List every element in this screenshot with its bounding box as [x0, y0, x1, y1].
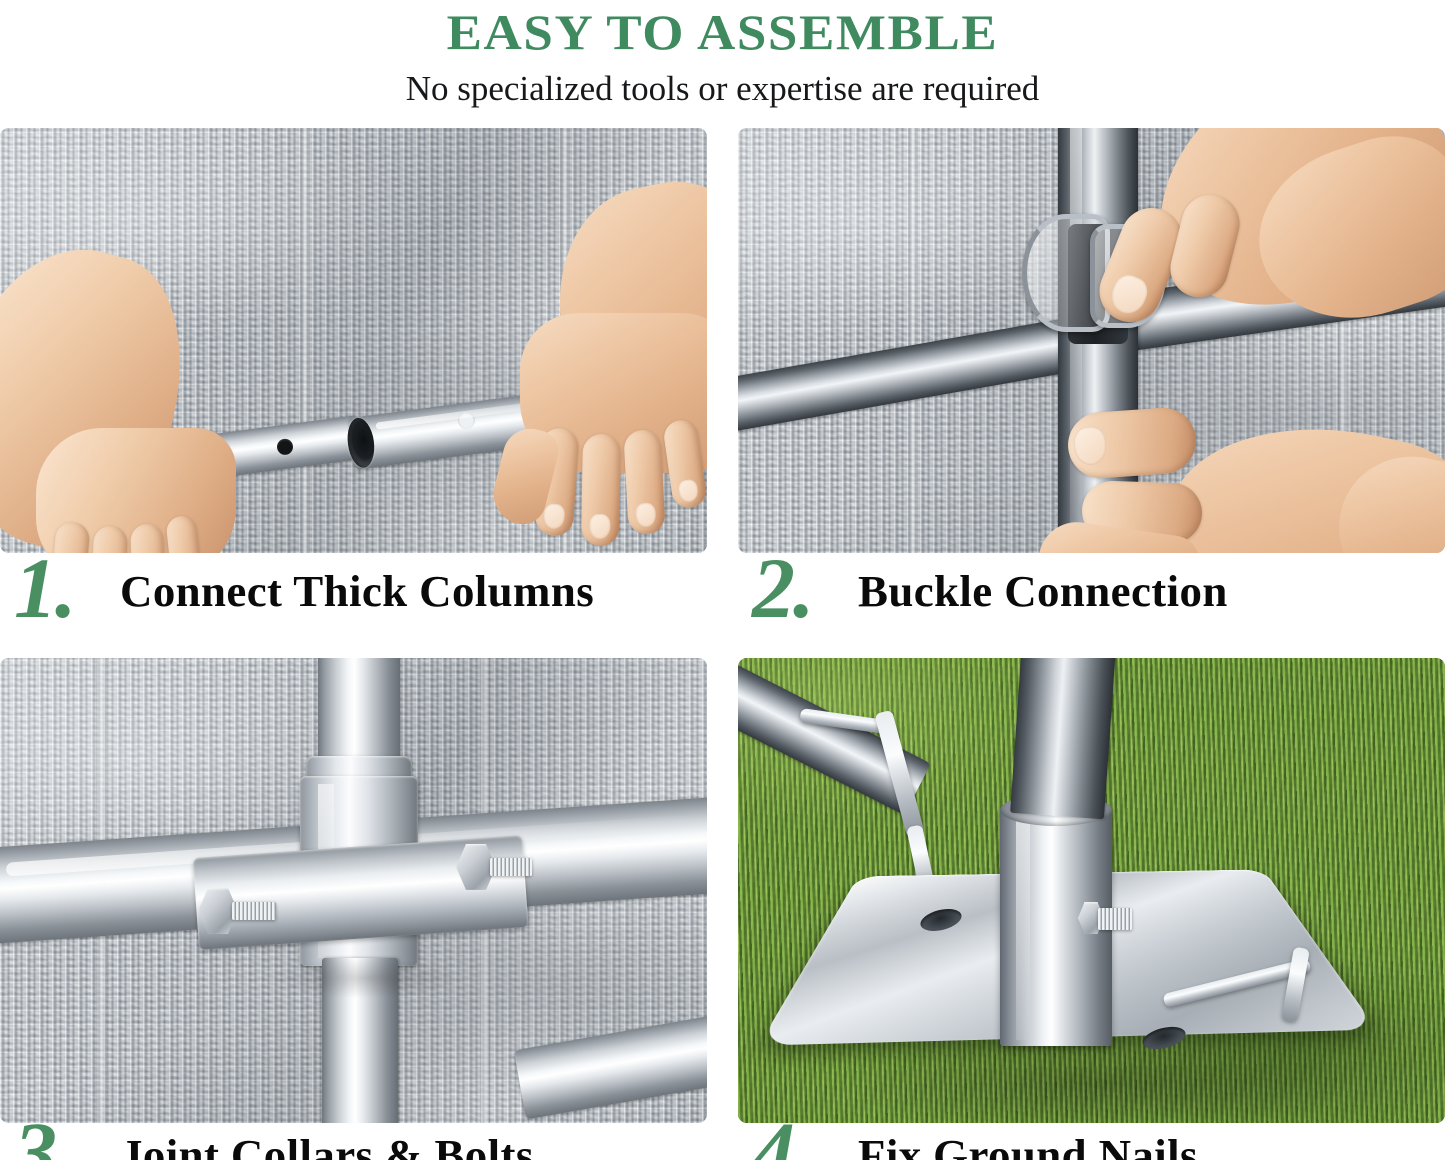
- step-caption-3: 3. Joint Collars & Bolts: [0, 1120, 707, 1160]
- page-subtitle: No specialized tools or expertise are re…: [0, 60, 1445, 112]
- step-label-3: Joint Collars & Bolts: [120, 1127, 534, 1160]
- step-number-4: 4.: [738, 1116, 858, 1160]
- step-card-1: 1. Connect Thick Columns: [0, 128, 707, 624]
- bolt-hole-dark: [276, 438, 294, 456]
- fingernail: [1073, 426, 1108, 466]
- step-number-3: 3.: [0, 1116, 120, 1160]
- step-card-2: 2. Buckle Connection: [738, 128, 1445, 624]
- tarp-seam: [300, 128, 310, 553]
- step-caption-1: 1. Connect Thick Columns: [0, 556, 707, 624]
- connect-thick-columns-photo: [0, 128, 707, 553]
- vertical-steel-pole-upper: [318, 658, 400, 768]
- fingernail: [589, 514, 610, 539]
- fix-ground-nails-photo: [738, 658, 1445, 1123]
- step-label-2: Buckle Connection: [858, 563, 1228, 624]
- right-hand-finger: [623, 429, 665, 535]
- step-number-1: 1.: [0, 552, 120, 624]
- hex-bolt-right-thread: [490, 858, 532, 876]
- step-caption-4: 4. Fix Ground Nails: [738, 1120, 1445, 1160]
- fingernail: [635, 502, 656, 527]
- lower-hand-index-finger: [1066, 406, 1198, 481]
- right-hand-finger: [581, 434, 621, 547]
- header: EASY TO ASSEMBLE No specialized tools or…: [0, 0, 1445, 120]
- socket-highlight: [1016, 812, 1030, 1040]
- socket-bolt-thread: [1098, 908, 1132, 930]
- step-card-4: 4. Fix Ground Nails: [738, 658, 1445, 1154]
- infographic-page: EASY TO ASSEMBLE No specialized tools or…: [0, 0, 1445, 1160]
- hex-bolt-left-thread: [232, 902, 276, 920]
- joint-shadow: [270, 958, 460, 998]
- step-caption-2: 2. Buckle Connection: [738, 556, 1445, 624]
- joint-collars-and-bolts-photo: [0, 658, 707, 1123]
- tarp-seam: [908, 128, 918, 553]
- page-title: EASY TO ASSEMBLE: [0, 0, 1445, 60]
- step-number-2: 2.: [738, 552, 858, 624]
- vertical-steel-pole: [1010, 658, 1115, 819]
- step-label-1: Connect Thick Columns: [120, 563, 594, 624]
- step-label-4: Fix Ground Nails: [858, 1127, 1198, 1160]
- steps-grid: 1. Connect Thick Columns: [0, 128, 1445, 1160]
- buckle-connection-photo: [738, 128, 1445, 553]
- fingernail: [1106, 271, 1152, 319]
- step-card-3: 3. Joint Collars & Bolts: [0, 658, 707, 1154]
- fingernail: [543, 503, 566, 529]
- fingernail: [677, 479, 699, 503]
